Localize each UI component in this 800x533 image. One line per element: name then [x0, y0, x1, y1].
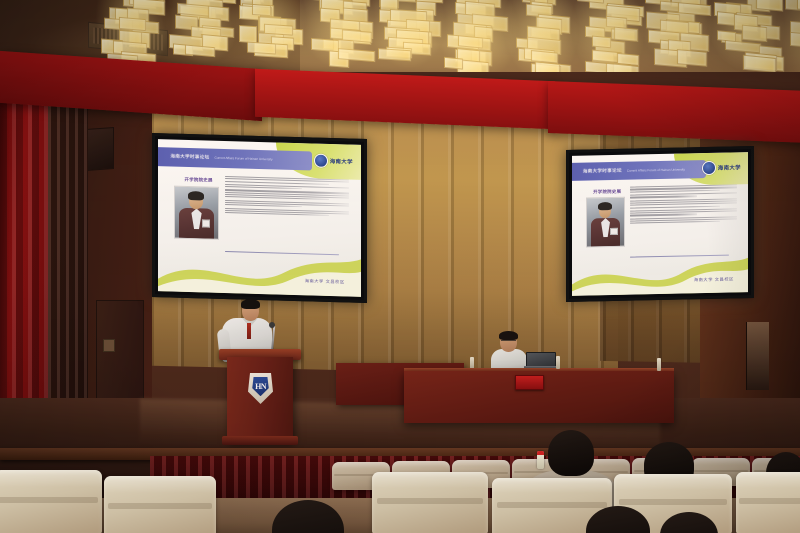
light-panel-tile	[742, 25, 767, 42]
auditorium-seat[interactable]	[0, 470, 102, 533]
slide-green-wave-2	[572, 246, 748, 296]
light-panel-tile	[239, 25, 258, 43]
slide-header-title-cn: 海南大学时事论坛	[170, 154, 209, 161]
slide-header-bar: 海南大学时事论坛 Current Affairs Forum of Hainan…	[158, 147, 312, 171]
glasses-icon	[501, 340, 516, 344]
projection-screen-right[interactable]: 海南大学时事论坛 Current Affairs Forum of Hainan…	[566, 146, 754, 302]
light-panel-tile	[725, 40, 760, 54]
presentation-slide-left: 海南大学时事论坛 Current Affairs Forum of Hainan…	[158, 139, 361, 297]
ceiling-light-cluster	[309, 0, 365, 63]
slide-signature: 海南大学 文昌校区	[305, 279, 345, 286]
ceiling-light-cluster	[717, 0, 775, 67]
slide-header-title-cn-2: 海南大学时事论坛	[583, 168, 622, 175]
light-panel-tile	[397, 0, 416, 3]
ceiling-light-cluster	[241, 0, 296, 58]
ceiling-light-cluster	[105, 0, 161, 68]
projection-screen-left[interactable]: 海南大学时事论坛 Current Affairs Forum of Hainan…	[152, 133, 367, 303]
attendee-head	[548, 430, 594, 476]
auditorium-seat[interactable]	[736, 472, 800, 533]
slide-body-text-2	[630, 185, 737, 254]
slide-green-wave	[158, 241, 361, 297]
podium-base	[222, 436, 298, 445]
door-plate-icon	[103, 339, 115, 352]
slide-section-title: 开学院院史展	[174, 176, 223, 185]
auditorium-scene: 海南大学时事论坛 Current Affairs Forum of Hainan…	[0, 0, 800, 533]
slide-header-title-en: Current Affairs Forum of Hainan Universi…	[214, 156, 272, 162]
presentation-slide-right: 海南大学时事论坛 Current Affairs Forum of Hainan…	[572, 152, 748, 296]
light-panel-tile	[247, 42, 276, 55]
wall-speaker-icon	[86, 127, 114, 171]
auditorium-seat[interactable]	[104, 476, 216, 533]
slide-university-logo-2: 海南大学	[702, 159, 741, 178]
light-panel-tile	[592, 35, 611, 47]
ceiling-light-cluster	[173, 0, 230, 58]
microphone-icon	[269, 322, 275, 328]
university-seal-icon-2	[702, 161, 716, 175]
podium-shield-emblem: HN	[248, 373, 273, 404]
ceiling-light-cluster	[377, 0, 436, 63]
slide-header-title-en-2: Current Affairs Forum of Hainan Universi…	[627, 168, 685, 173]
slide-university-logo: 海南大学	[314, 150, 353, 171]
slide-portrait-photo-2	[586, 197, 625, 247]
light-panel-tile	[743, 54, 776, 73]
bottle-cap-icon	[537, 451, 544, 455]
ceiling-light-cluster	[649, 0, 703, 62]
light-panel-tile	[458, 34, 483, 48]
ceiling-light-cluster	[445, 0, 509, 75]
light-panel-tile	[107, 53, 139, 69]
doorway-right	[746, 322, 769, 390]
ceiling-light-cluster	[513, 0, 569, 77]
podium-emblem-text: HN	[255, 383, 266, 391]
slide-header-bar-2: 海南大学时事论坛 Current Affairs Forum of Hainan…	[572, 160, 706, 181]
light-panel-tile	[677, 49, 708, 67]
university-seal-icon	[314, 153, 328, 167]
light-panel-tile	[614, 27, 639, 41]
light-panel-tile	[790, 32, 800, 48]
slide-signature-2: 海南大学 文昌校区	[694, 277, 734, 284]
water-bottle-3	[657, 358, 661, 371]
slide-logo-text-2: 海南大学	[718, 164, 741, 172]
light-panel-tile	[119, 16, 146, 30]
slide-logo-text: 海南大学	[330, 157, 353, 166]
side-door-left	[96, 300, 144, 412]
red-nameplate	[515, 375, 544, 390]
slide-body-text	[225, 176, 349, 252]
ceiling-light-cluster	[581, 0, 635, 77]
slide-section-title-2: 开学院院史展	[586, 188, 628, 196]
light-panel-tile	[252, 4, 271, 16]
auditorium-seat[interactable]	[372, 472, 488, 533]
light-panel-tile	[378, 49, 411, 62]
slide-portrait-photo	[174, 185, 219, 240]
audience-water-bottle	[537, 451, 544, 469]
water-bottle-2	[556, 356, 560, 369]
light-panel-tile	[444, 56, 463, 69]
